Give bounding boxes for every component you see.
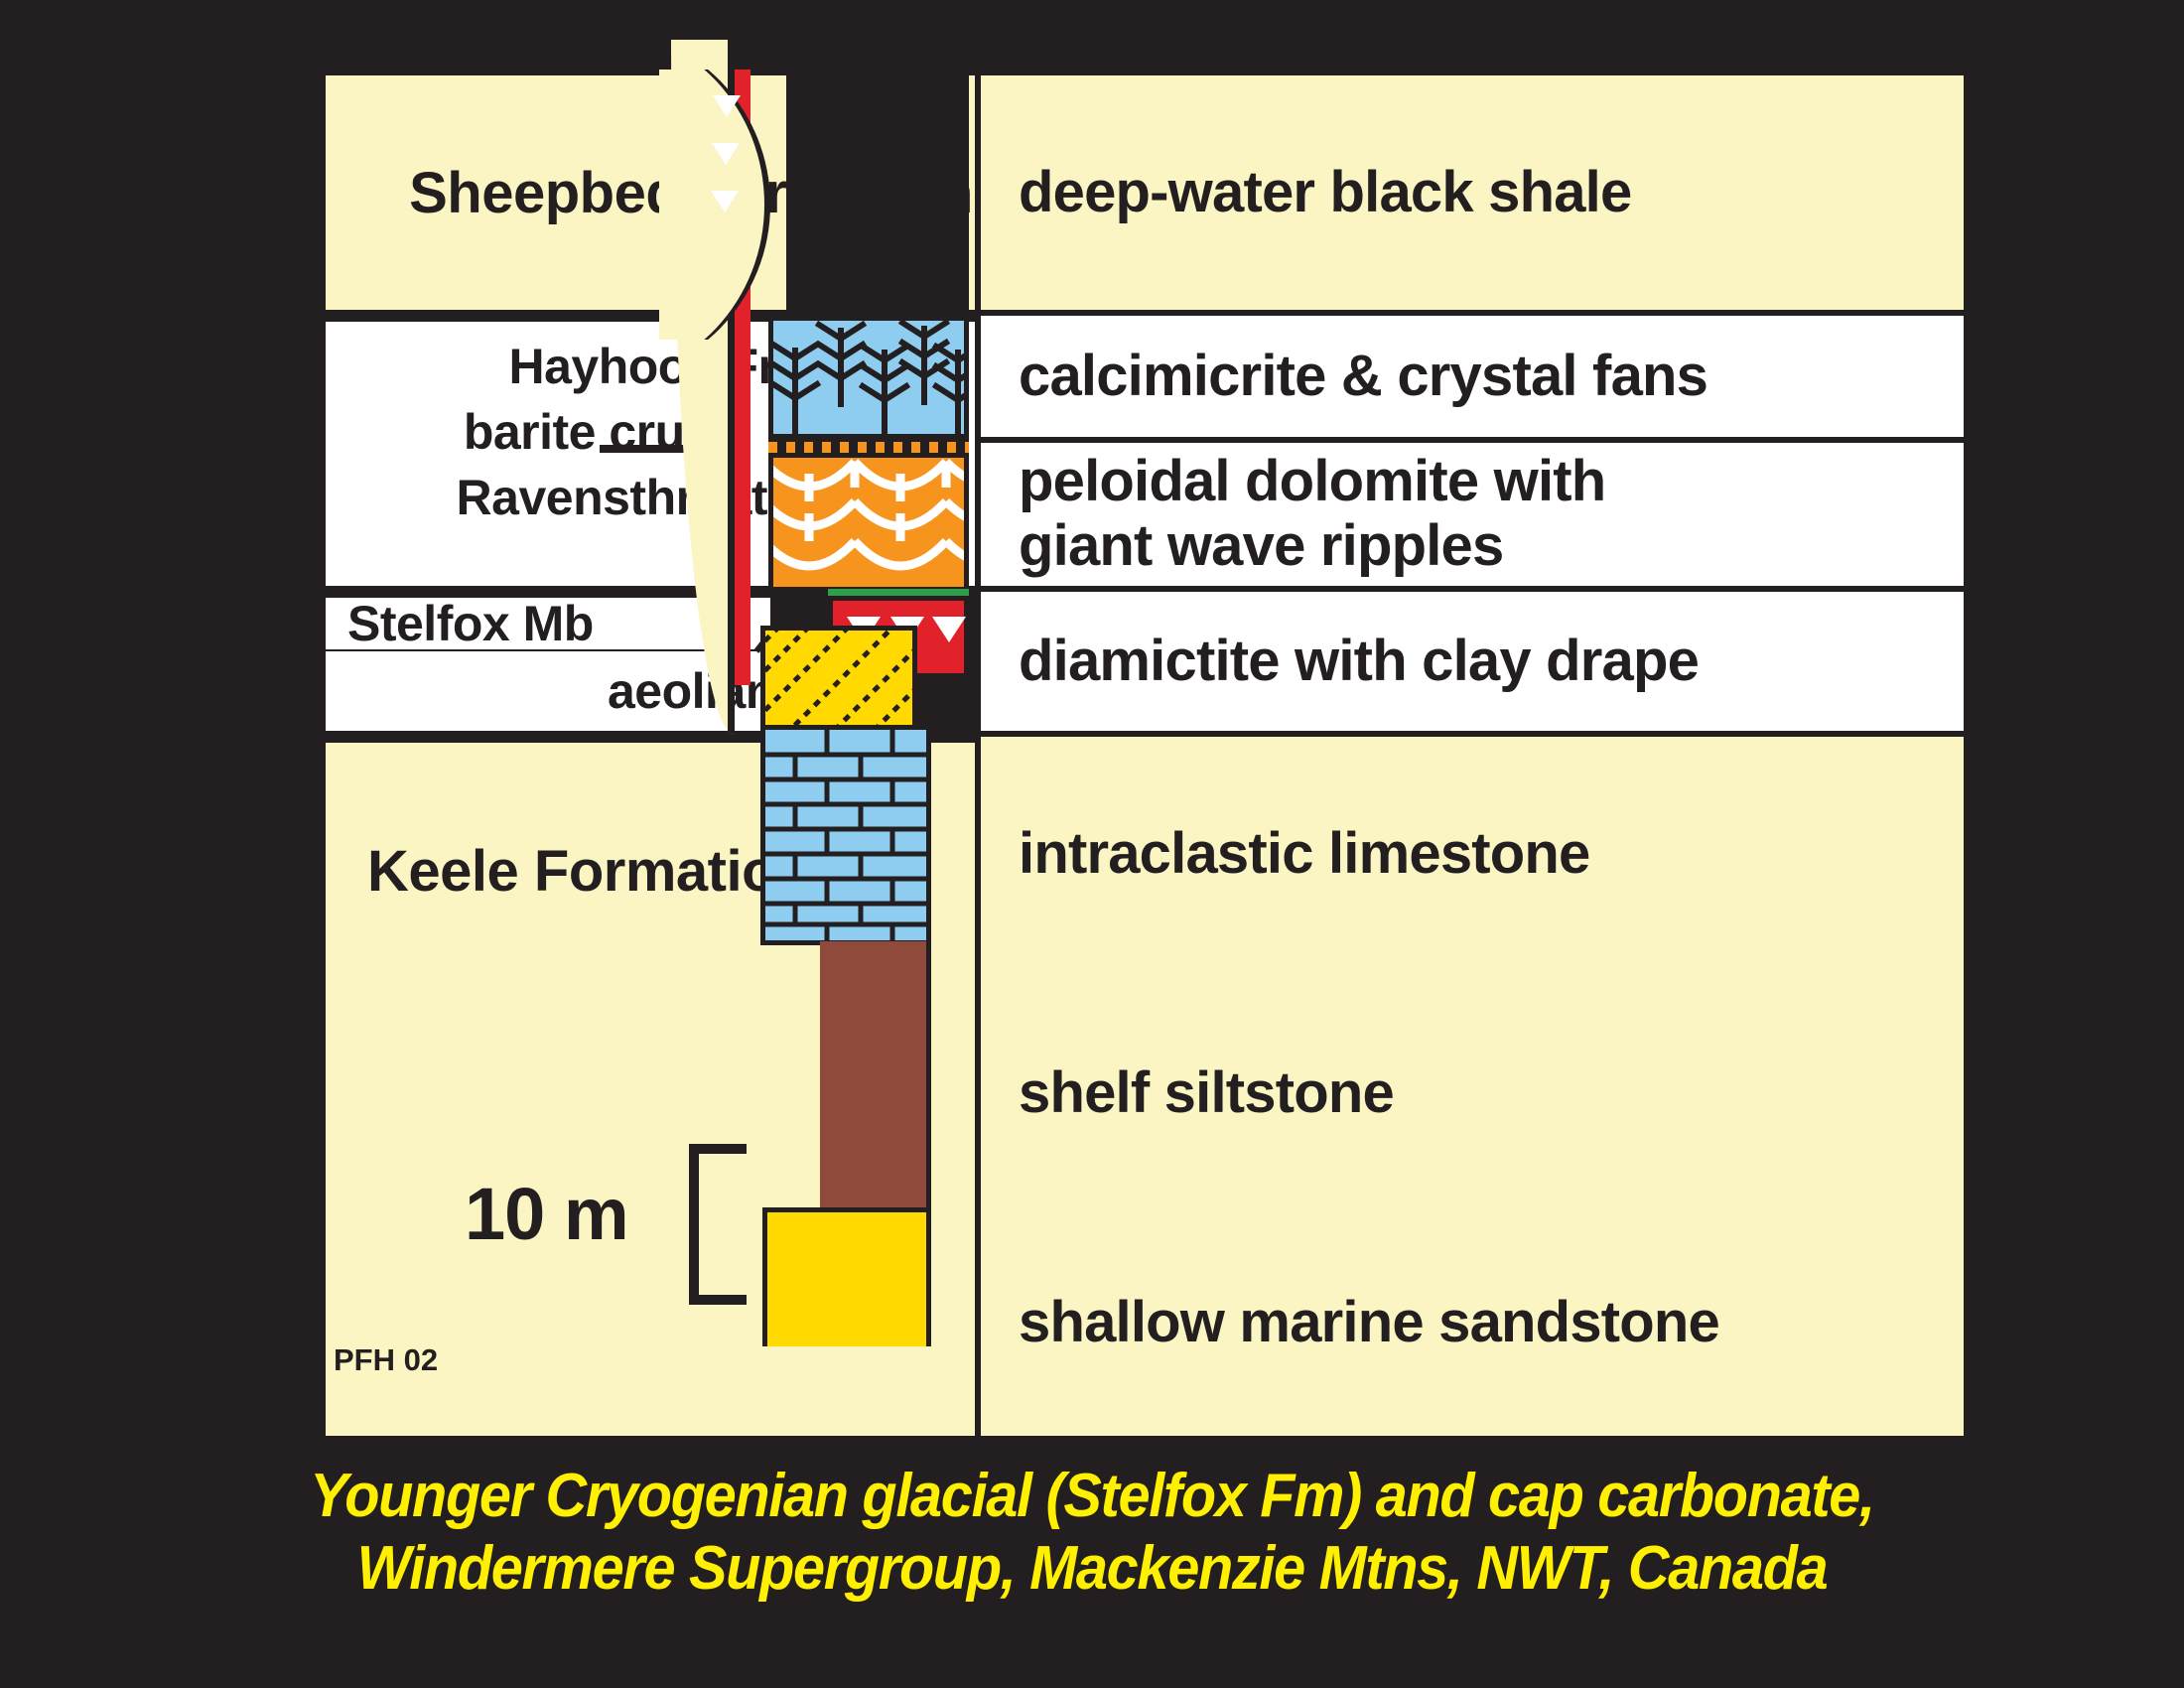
description-label-intraclastic-limestone: intraclastic limestone bbox=[1019, 822, 1590, 887]
description-cell-peloidal-dolomite: peloidal dolomite with giant wave ripple… bbox=[975, 437, 1970, 592]
description-label-calcimicrite-crystal-fans: calcimicrite & crystal fans bbox=[1019, 345, 1707, 409]
giant-wave-ripple-symbols bbox=[773, 458, 964, 587]
unit-peloidal-dolomite bbox=[768, 453, 969, 592]
aeolianite-crosshatch bbox=[765, 631, 912, 730]
description-label-shelf-siltstone: shelf siltstone bbox=[1019, 1061, 1394, 1126]
stratigraphic-figure: Sheepbed Formation Hayhook Fm barite cru… bbox=[320, 70, 1970, 1442]
unit-aeolianite bbox=[760, 626, 917, 735]
description-label-deep-water-black-shale: deep-water black shale bbox=[1019, 161, 1631, 225]
description-label-shallow-marine-sandstone: shallow marine sandstone bbox=[1019, 1291, 1719, 1355]
limestone-brick-pattern bbox=[765, 730, 926, 940]
caption-line-2: Windermere Supergroup, Mackenzie Mtns, N… bbox=[76, 1532, 2108, 1605]
description-cell-intraclastic-limestone: intraclastic limestone bbox=[975, 731, 1970, 977]
dropstone-icon bbox=[932, 617, 966, 642]
dropstone-icon bbox=[713, 95, 741, 117]
lithology-column bbox=[711, 70, 969, 1442]
unit-intraclastic-limestone bbox=[760, 725, 931, 945]
description-label-peloidal-dolomite-line1: peloidal dolomite with bbox=[1019, 450, 1605, 514]
black-shale-recessive-profile bbox=[786, 70, 856, 316]
formation-label-stelfox: Stelfox Mb bbox=[347, 595, 594, 652]
figure-caption: Younger Cryogenian glacial (Stelfox Fm) … bbox=[76, 1460, 2108, 1605]
unit-crystal-fans bbox=[768, 316, 969, 439]
crystal-fan-symbols bbox=[773, 321, 964, 434]
description-cell-shallow-marine-sandstone: shallow marine sandstone bbox=[975, 1209, 1970, 1442]
description-cell-calcimicrite-crystal-fans: calcimicrite & crystal fans bbox=[975, 310, 1970, 443]
unit-shelf-siltstone bbox=[820, 941, 931, 1211]
unit-barite-crust bbox=[768, 435, 969, 455]
caption-line-1: Younger Cryogenian glacial (Stelfox Fm) … bbox=[76, 1460, 2108, 1532]
description-cell-shelf-siltstone: shelf siltstone bbox=[975, 971, 1970, 1215]
figure-canvas: Sheepbed Formation Hayhook Fm barite cru… bbox=[0, 0, 2184, 1688]
description-label-diamictite-clay-drape: diamictite with clay drape bbox=[1019, 630, 1699, 694]
description-cell-deep-water-black-shale: deep-water black shale bbox=[975, 70, 1970, 316]
dropstone-icon bbox=[711, 191, 739, 212]
figure-id-label: PFH 02 bbox=[334, 1342, 438, 1378]
scale-label: 10 m bbox=[465, 1172, 628, 1256]
description-label-peloidal-dolomite-line2: giant wave ripples bbox=[1019, 514, 1503, 579]
description-cell-diamictite-clay-drape: diamictite with clay drape bbox=[975, 586, 1970, 737]
dropstone-icon bbox=[712, 143, 740, 165]
unit-shallow-marine-sandstone bbox=[762, 1207, 931, 1346]
